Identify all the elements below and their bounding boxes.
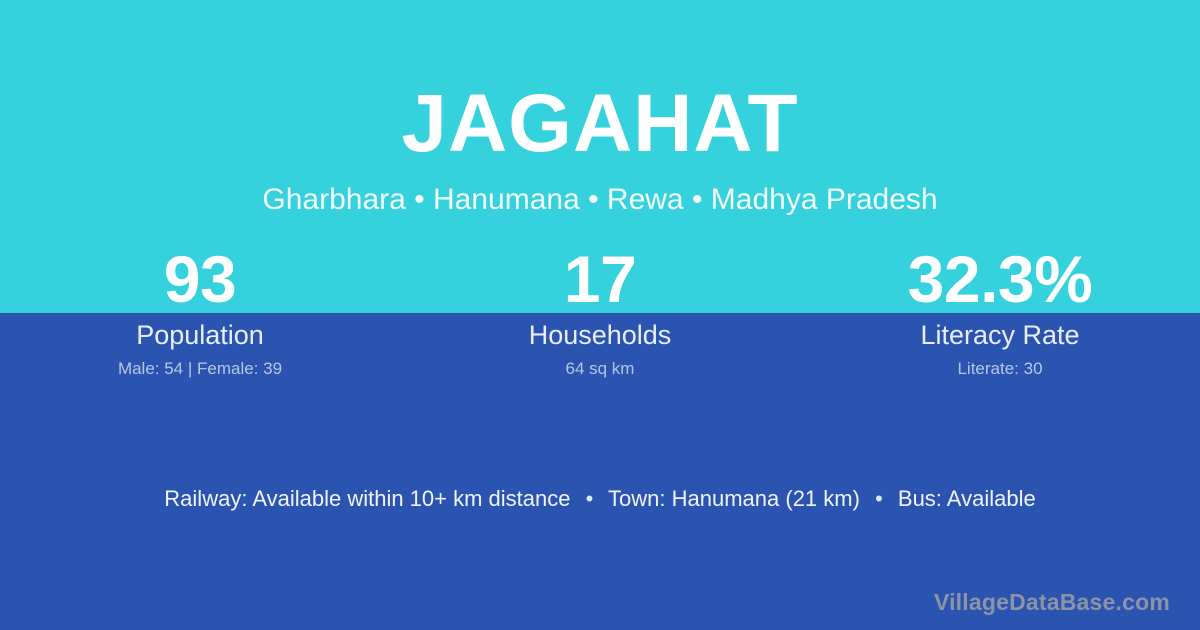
amenity-railway: Railway: Available within 10+ km distanc… (164, 486, 570, 511)
amenity-bus: Bus: Available (898, 486, 1036, 511)
breadcrumb: Gharbhara • Hanumana • Rewa • Madhya Pra… (0, 182, 1200, 218)
stat-value: 17 (400, 245, 800, 313)
stat-sublabel: Male: 54 | Female: 39 (0, 359, 400, 379)
stat-value: 93 (0, 245, 400, 313)
amenity-separator: • (577, 484, 603, 514)
stat-label: Literacy Rate (800, 319, 1200, 351)
stat-sublabel: 64 sq km (400, 359, 800, 379)
stat-value: 32.3% (800, 245, 1200, 313)
amenity-separator: • (866, 484, 892, 514)
amenity-town: Town: Hanumana (21 km) (608, 486, 860, 511)
stat-label: Households (400, 319, 800, 351)
stat-households: 17 Households 64 sq km (400, 245, 800, 379)
page-title: JAGAHAT (0, 78, 1200, 170)
stat-literacy-rate: 32.3% Literacy Rate Literate: 30 (800, 245, 1200, 379)
stat-label: Population (0, 319, 400, 351)
stat-population: 93 Population Male: 54 | Female: 39 (0, 245, 400, 379)
stat-sublabel: Literate: 30 (800, 359, 1200, 379)
stats-row: 93 Population Male: 54 | Female: 39 17 H… (0, 245, 1200, 379)
amenities-line: Railway: Available within 10+ km distanc… (0, 484, 1200, 514)
village-info-card: JAGAHAT Gharbhara • Hanumana • Rewa • Ma… (0, 0, 1200, 630)
site-brand: VillageDataBase.com (934, 588, 1170, 616)
